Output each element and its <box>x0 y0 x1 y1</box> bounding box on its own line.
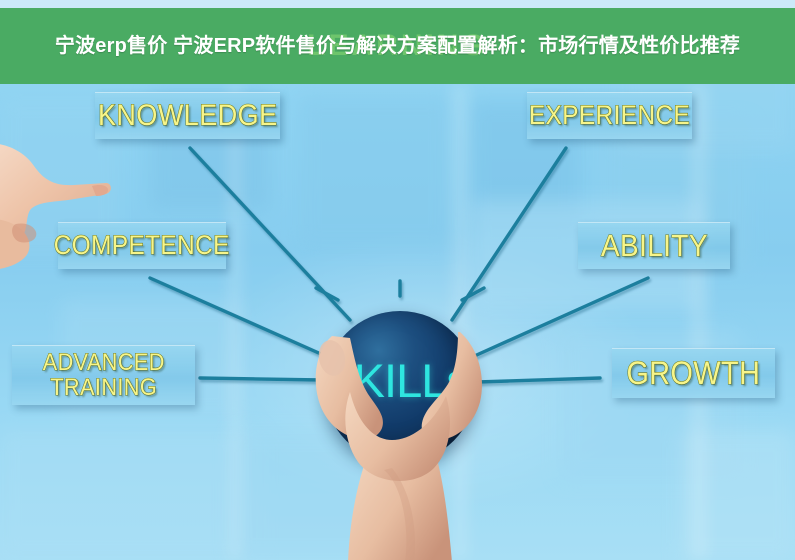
page-title: 宁波erp售价 宁波ERP软件售价与解决方案配置解析：市场行情及性价比推荐 <box>18 33 778 60</box>
screenshot-stage: sKILLs LEARNING 宁 <box>0 0 795 560</box>
label-experience-text: EXPERIENCE <box>529 103 690 129</box>
label-knowledge[interactable]: KNOWLEDGE <box>95 92 280 139</box>
label-competence-text: COMPETENCE <box>54 233 230 259</box>
label-growth[interactable]: GROWTH <box>612 348 775 398</box>
label-knowledge-text: KNOWLEDGE <box>98 102 278 131</box>
label-competence[interactable]: COMPETENCE <box>58 222 226 269</box>
label-advanced-training-text: ADVANCED TRAINING <box>42 351 164 400</box>
label-ability-text: ABILITY <box>600 231 707 261</box>
top-edge-strip <box>0 0 795 8</box>
label-ability[interactable]: ABILITY <box>578 222 730 269</box>
title-banner: LEARNING 宁波erp售价 宁波ERP软件售价与解决方案配置解析：市场行情… <box>0 8 795 84</box>
label-experience[interactable]: EXPERIENCE <box>527 92 692 139</box>
holding-hand-icon <box>292 330 512 560</box>
label-growth-text: GROWTH <box>627 358 761 389</box>
label-advanced-training[interactable]: ADVANCED TRAINING <box>12 345 195 405</box>
